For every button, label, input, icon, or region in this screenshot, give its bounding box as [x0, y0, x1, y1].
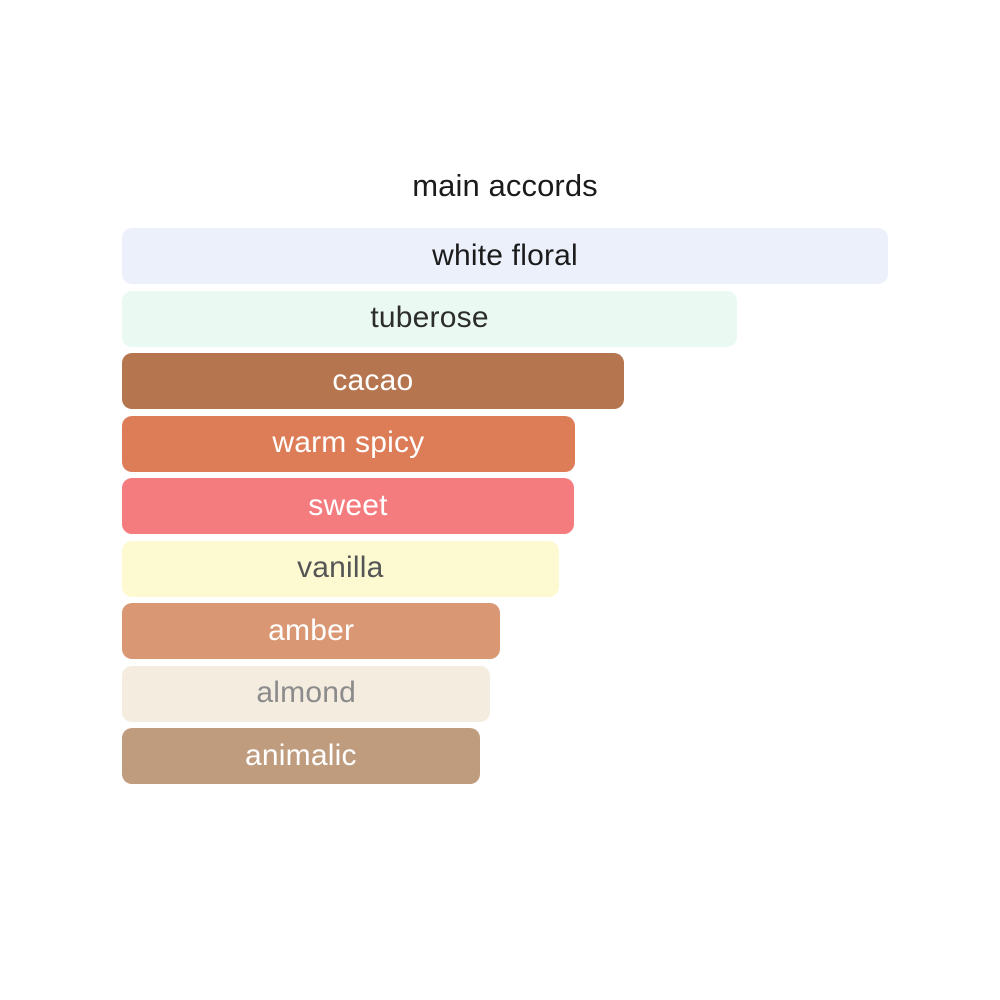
accord-bar-list: white floraltuberosecacaowarm spicysweet…	[122, 228, 888, 791]
accord-row: white floral	[122, 228, 888, 284]
accord-row: amber	[122, 603, 888, 659]
accord-bar[interactable]: almond	[122, 666, 490, 722]
accord-row: sweet	[122, 478, 888, 534]
accord-bar[interactable]: amber	[122, 603, 500, 659]
accord-row: almond	[122, 666, 888, 722]
accord-label: cacao	[332, 364, 413, 399]
accord-bar[interactable]: white floral	[122, 228, 888, 284]
accord-label: white floral	[432, 239, 578, 274]
accord-row: warm spicy	[122, 416, 888, 472]
accord-row: cacao	[122, 353, 888, 409]
accord-label: warm spicy	[272, 426, 424, 461]
accord-row: animalic	[122, 728, 888, 784]
accord-bar[interactable]: sweet	[122, 478, 574, 534]
accord-label: almond	[256, 676, 356, 711]
accord-bar[interactable]: animalic	[122, 728, 480, 784]
accord-label: animalic	[245, 739, 357, 774]
accord-label: sweet	[308, 489, 387, 524]
accord-bar[interactable]: tuberose	[122, 291, 737, 347]
accord-label: vanilla	[297, 551, 383, 586]
accord-row: tuberose	[122, 291, 888, 347]
accord-bar[interactable]: warm spicy	[122, 416, 575, 472]
chart-title: main accords	[122, 166, 888, 206]
accord-row: vanilla	[122, 541, 888, 597]
accord-label: amber	[268, 614, 354, 649]
accord-bar[interactable]: cacao	[122, 353, 624, 409]
accord-label: tuberose	[370, 301, 488, 336]
accord-bar[interactable]: vanilla	[122, 541, 559, 597]
main-accords-widget: main accords white floraltuberosecacaowa…	[0, 0, 1000, 1000]
